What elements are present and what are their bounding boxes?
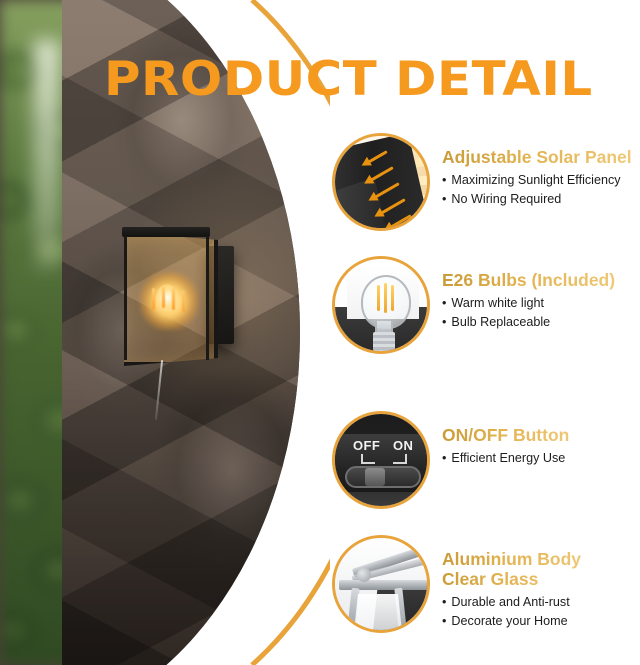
lantern-filament [152,288,155,310]
feature-bullet: No Wiring Required [442,190,632,209]
lantern-filament [172,288,175,310]
lantern-frame-bar [124,236,127,360]
feature-bullet: Warm white light [442,294,615,313]
on-off-switch-icon: OFF ON [332,411,430,509]
feature-title: ON/OFF Button [442,425,569,445]
feature-row-solar-panel: Adjustable Solar Panel Maximizing Sunlig… [332,133,640,231]
solar-panel-icon [332,133,430,231]
feature-title-line: Aluminium Body [442,549,581,569]
feature-bullets: Efficient Energy Use [442,449,569,468]
feature-bullets: Maximizing Sunlight Efficiency No Wiring… [442,171,632,209]
feature-title-line: Clear Glass [442,569,538,589]
feature-bullet: Decorate your Home [442,612,581,631]
switch-off-label: OFF [353,438,380,453]
feature-bullets: Warm white light Bulb Replaceable [442,294,615,332]
feature-bullet: Durable and Anti-rust [442,593,581,612]
lantern-filament [162,286,165,308]
feature-row-e26-bulbs: E26 Bulbs (Included) Warm white light Bu… [332,256,640,354]
feature-title: Aluminium Body Clear Glass [442,549,581,589]
feature-row-aluminium-body: Aluminium Body Clear Glass Durable and A… [332,535,640,633]
lantern-top-cap [122,227,210,237]
feature-bullet: Bulb Replaceable [442,313,615,332]
feature-title: Adjustable Solar Panel [442,147,632,167]
light-bulb-icon [332,256,430,354]
feature-bullet: Efficient Energy Use [442,449,569,468]
switch-on-label: ON [393,438,413,453]
aluminium-body-icon [332,535,430,633]
lantern-filament [182,290,185,312]
wall-lantern [118,232,238,364]
feature-bullet: Maximizing Sunlight Efficiency [442,171,632,190]
feature-bullets: Durable and Anti-rust Decorate your Home [442,593,581,631]
feature-row-on-off-button: OFF ON ON/OFF Button Efficient Energy Us… [332,411,640,509]
lantern-frame-bar [206,236,209,360]
foliage-highlight [34,40,60,270]
page-title: PRODUCT DETAIL [104,52,613,108]
feature-title: E26 Bulbs (Included) [442,270,615,290]
